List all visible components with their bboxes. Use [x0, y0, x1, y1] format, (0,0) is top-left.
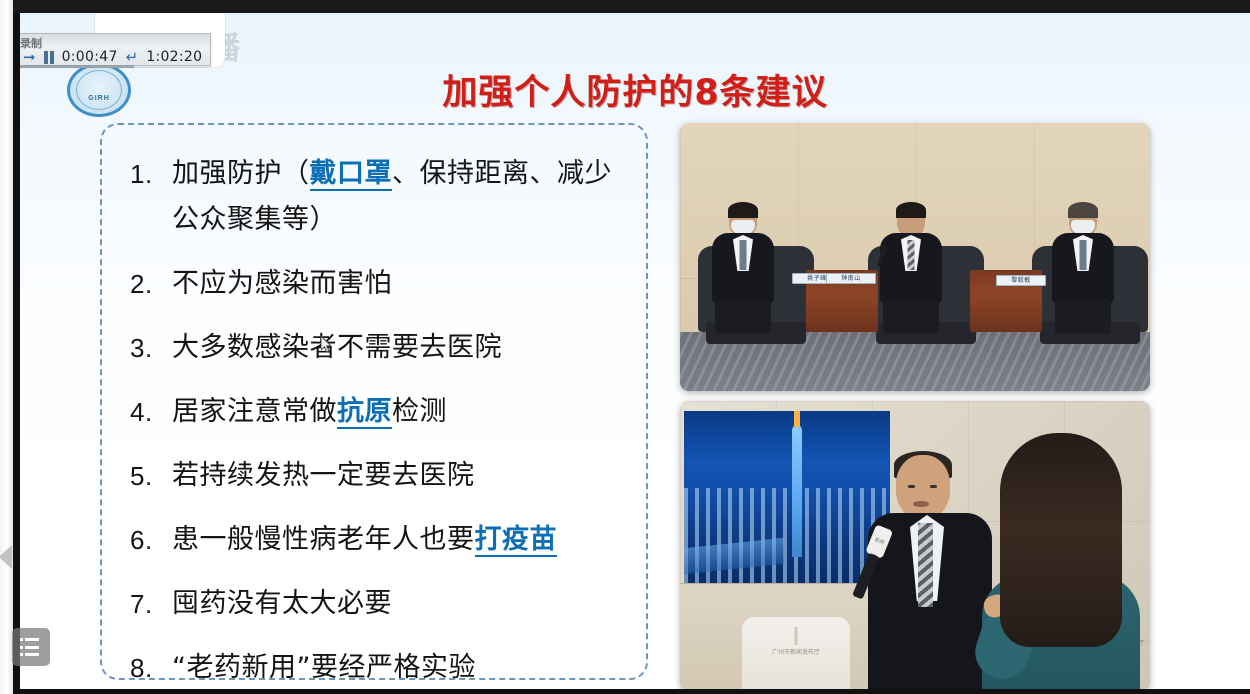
list-item-number: 1. [118, 151, 172, 197]
elapsed-time: 0:00:47 [62, 49, 118, 65]
list-item: 6. 患一般慢性病老年人也要打疫苗 [118, 517, 630, 563]
list-item-text: 加强防护（戴口罩、保持距离、减少公众聚集等） [172, 151, 630, 243]
white-chair: 广州市新闻发布厅 [742, 617, 850, 689]
list-item-number: 2. [118, 261, 172, 307]
tie [908, 240, 915, 270]
text-part: “老药新用”要经严格实验 [172, 652, 476, 683]
list-item: 5. 若持续发热一定要去医院 [118, 453, 630, 499]
nameplate: 黎毅敏 [996, 275, 1046, 286]
hair [896, 202, 926, 218]
hair [1068, 202, 1098, 218]
list-item: 2. 不应为感染而害怕 [118, 261, 630, 307]
list-item-text: 若持续发热一定要去医院 [172, 453, 630, 499]
face-mask [1071, 220, 1095, 234]
list-item: 7. 囤药没有太大必要 [118, 581, 630, 627]
legs [1055, 300, 1111, 334]
list-item-number: 8. [118, 645, 172, 689]
page-title: 加强个人防护的8条建议 [20, 64, 1250, 115]
head [896, 455, 950, 519]
nameplate: 钟南山 [826, 273, 876, 284]
chair-emblem [795, 627, 798, 645]
list-item-text: 患一般慢性病老年人也要打疫苗 [172, 517, 630, 563]
list-item: 1. 加强防护（戴口罩、保持距离、减少公众聚集等） [118, 151, 630, 243]
canton-tower [792, 425, 802, 557]
list-item-text: 居家注意常做抗原检测 [172, 389, 630, 435]
outline-toggle-button[interactable] [12, 628, 50, 666]
panelist-right [1050, 204, 1116, 332]
face-mask [731, 220, 755, 234]
text-part: 若持续发热一定要去医院 [172, 460, 475, 491]
play-arrow-icon[interactable]: ➞ [23, 50, 36, 65]
highlighted-term: 戴口罩 [310, 158, 393, 191]
striped-tie [918, 523, 933, 607]
mouth [913, 501, 929, 507]
text-part: 不应为感染而害怕 [172, 268, 392, 299]
photo-interview: 广州市新闻发布厅 新闻 [680, 401, 1150, 689]
list-item-text: 不应为感染而害怕 [172, 261, 630, 307]
recording-control-bar[interactable]: 录制 ➞ 0:00:47 ↵ 1:02:20 [20, 33, 211, 66]
slide-canvas: 现场直播 SYSUTV GIRH 录制 ➞ 0:00:47 ↵ 1:02:20 … [20, 13, 1250, 689]
list-item-text: 囤药没有太大必要 [172, 581, 630, 627]
list-item-number: 5. [118, 453, 172, 499]
text-part: 检测 [392, 396, 447, 427]
highlighted-term: 抗原 [337, 396, 392, 429]
reporter [982, 433, 1140, 689]
list-item-number: 4. [118, 389, 172, 435]
mouse-cursor-icon [321, 336, 333, 354]
text-part: 加强防护（ [172, 158, 310, 189]
eye [930, 485, 937, 488]
list-item: 3. 大多数感染者不需要去医院 [118, 325, 630, 371]
panelist-left [710, 204, 776, 332]
tie [740, 240, 747, 270]
tie [1080, 240, 1087, 270]
advice-list-box: 1. 加强防护（戴口罩、保持距离、减少公众聚集等） 2. 不应为感染而害怕 3.… [100, 123, 648, 680]
highlighted-term: 打疫苗 [475, 524, 558, 557]
city-skyline-screen [684, 411, 890, 583]
text-part: 囤药没有太大必要 [172, 588, 392, 619]
text-part: 居家注意常做 [172, 396, 337, 427]
list-item: 4. 居家注意常做抗原检测 [118, 389, 630, 435]
top-black-bar [13, 0, 1250, 13]
long-hair [1000, 433, 1122, 647]
total-time: 1:02:20 [146, 49, 202, 65]
left-black-edge [13, 0, 20, 694]
pause-icon[interactable] [44, 51, 54, 64]
legs [883, 300, 939, 334]
list-icon [20, 638, 42, 656]
list-item-number: 6. [118, 517, 172, 563]
list-item-number: 3. [118, 325, 172, 371]
eye [908, 485, 915, 488]
screen-root: 现场直播 SYSUTV GIRH 录制 ➞ 0:00:47 ↵ 1:02:20 … [0, 0, 1250, 694]
legs [715, 300, 771, 334]
list-item-text: 大多数感染者不需要去医院 [172, 325, 630, 371]
list-item-number: 7. [118, 581, 172, 627]
text-part: 大多数感染者不需要去医院 [172, 332, 502, 363]
chair-label: 广州市新闻发布厅 [772, 647, 820, 656]
left-gutter [0, 0, 13, 694]
text-part: 患一般慢性病老年人也要 [172, 524, 475, 555]
bottom-black-bar [13, 689, 1250, 694]
photo-press-conference: 姚子峰 钟南山 黎毅敏 [680, 123, 1150, 391]
panelist-center [878, 204, 944, 332]
list-item-text: “老药新用”要经严格实验 [172, 645, 630, 689]
hair [728, 202, 758, 218]
replay-icon[interactable]: ↵ [126, 50, 139, 65]
list-item: 8. “老药新用”要经严格实验 [118, 645, 630, 689]
